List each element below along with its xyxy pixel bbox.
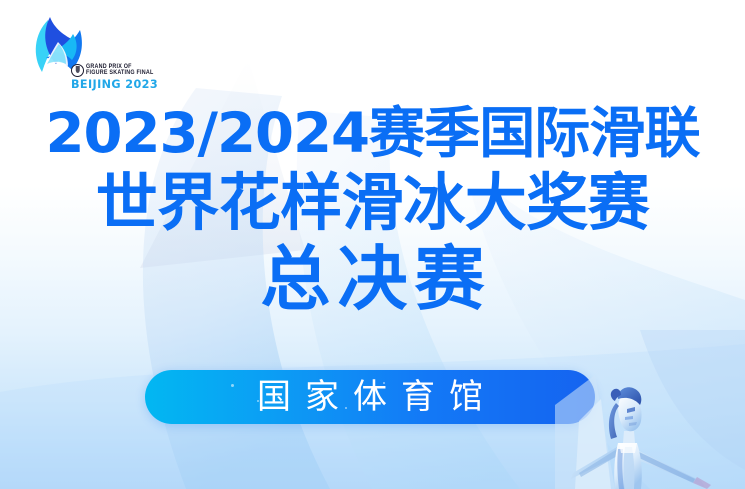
headline-block: 2023/2024赛季国际滑联 世界花样滑冰大奖赛 总决赛 [0, 106, 745, 314]
sparkle-dot [345, 407, 347, 409]
headline-line-3: 总决赛 [0, 244, 745, 314]
venue-badge: 国家体育馆 [145, 370, 595, 424]
sparkle-dot [231, 384, 234, 387]
laurel-seal-icon [71, 64, 84, 77]
logo-line-2: FIGURE SKATING FINAL [86, 70, 154, 77]
poster-banner: GRAND PRIX OF FIGURE SKATING FINAL BEIJI… [0, 0, 745, 489]
event-logo: GRAND PRIX OF FIGURE SKATING FINAL BEIJI… [24, 14, 164, 94]
headline-line-1: 2023/2024赛季国际滑联 [0, 106, 745, 161]
right-soft-band [640, 330, 745, 470]
logo-wordmark: GRAND PRIX OF FIGURE SKATING FINAL BEIJI… [71, 64, 167, 91]
sparkle-dot [257, 400, 259, 402]
logo-city-year: BEIJING 2023 [71, 78, 167, 91]
venue-label: 国家体育馆 [243, 380, 497, 414]
headline-line-2: 世界花样滑冰大奖赛 [0, 172, 745, 234]
